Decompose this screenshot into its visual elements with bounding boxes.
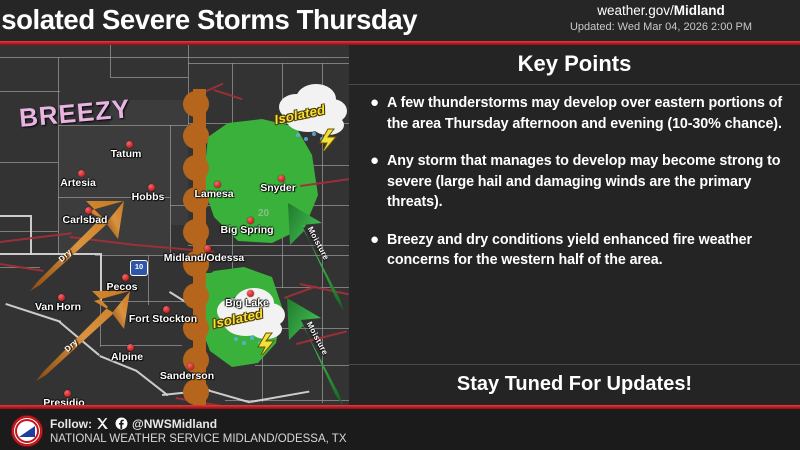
key-point-text: Breezy and dry conditions yield enhanced… — [387, 230, 787, 271]
city-label: Pecos — [107, 281, 138, 293]
key-point-text: Any storm that manages to develop may be… — [387, 151, 787, 213]
office-name: NATIONAL WEATHER SERVICE MIDLAND/ODESSA,… — [50, 433, 347, 445]
follow-line: Follow: @NWSMidland — [50, 417, 217, 431]
x-twitter-icon[interactable] — [96, 417, 109, 430]
updated-timestamp: Updated: Wed Mar 04, 2026 2:00 PM — [536, 20, 786, 34]
key-points-panel: Key Points ●A few thunderstorms may deve… — [349, 45, 800, 405]
city-dot-icon — [247, 217, 254, 224]
city-label: Lamesa — [194, 188, 233, 200]
weather-graphic: Isolated Severe Storms Thursday weather.… — [0, 0, 800, 450]
key-point-item: ●A few thunderstorms may develop over ea… — [365, 93, 787, 134]
city-label: Big Lake — [225, 297, 269, 309]
storm-icon: Isolated — [272, 81, 349, 156]
city-label: Artesia — [60, 177, 96, 189]
bullet-marker-icon: ● — [365, 151, 387, 213]
footer-bar: Follow: @NWSMidland NATIONAL WEATHER SER… — [0, 409, 800, 450]
key-point-text: A few thunderstorms may develop over eas… — [387, 93, 787, 134]
city-dot-icon — [247, 290, 254, 297]
follow-label: Follow: — [50, 417, 92, 431]
city-dot-icon — [85, 207, 92, 214]
city-label: Hobbs — [132, 191, 165, 203]
city-dot-icon — [78, 170, 85, 177]
bullet-marker-icon: ● — [365, 93, 387, 134]
stay-tuned-bar: Stay Tuned For Updates! — [349, 364, 800, 405]
city-dot-icon — [127, 344, 134, 351]
city-label: Tatum — [111, 148, 142, 160]
city-label: Van Horn — [35, 301, 81, 313]
city-dot-icon — [122, 274, 129, 281]
city-dot-icon — [204, 245, 211, 252]
page-title: Isolated Severe Storms Thursday — [0, 2, 539, 38]
city-label: Fort Stockton — [129, 313, 197, 325]
city-dot-icon — [278, 175, 285, 182]
highway-20-label: 20 — [258, 208, 269, 219]
stay-tuned-text: Stay Tuned For Updates! — [349, 365, 800, 403]
city-dot-icon — [187, 363, 194, 370]
site-office: Midland — [674, 3, 725, 18]
city-label: Big Spring — [220, 224, 273, 236]
nws-logo-icon — [11, 415, 43, 447]
city-dot-icon — [214, 181, 221, 188]
weather-gov-link[interactable]: weather.gov/Midland — [536, 3, 786, 19]
key-point-item: ●Any storm that manages to develop may b… — [365, 151, 787, 213]
city-dot-icon — [126, 141, 133, 148]
city-dot-icon — [58, 294, 65, 301]
key-point-item: ●Breezy and dry conditions yield enhance… — [365, 230, 787, 271]
key-points-header: Key Points — [349, 45, 800, 85]
social-handle[interactable]: @NWSMidland — [132, 417, 217, 431]
forecast-map[interactable]: Dry Dry Moisture — [0, 45, 349, 405]
city-label: Alpine — [111, 351, 143, 363]
interstate-10-shield: 10 — [130, 260, 148, 276]
city-dot-icon — [163, 306, 170, 313]
site-prefix: weather.gov/ — [597, 3, 674, 18]
city-dot-icon — [148, 184, 155, 191]
header-branding: weather.gov/Midland Updated: Wed Mar 04,… — [536, 3, 786, 34]
moisture-arrow: Moisture — [281, 290, 349, 405]
bullet-marker-icon: ● — [365, 230, 387, 271]
facebook-icon[interactable] — [115, 417, 128, 430]
city-label: Sanderson — [160, 370, 214, 382]
city-label: Midland/Odessa — [164, 252, 245, 264]
city-label: Snyder — [260, 182, 296, 194]
city-label: Carlsbad — [63, 214, 108, 226]
key-points-list: ●A few thunderstorms may develop over ea… — [365, 93, 787, 288]
city-label: Presidio — [43, 397, 84, 405]
city-dot-icon — [64, 390, 71, 397]
header-bar: Isolated Severe Storms Thursday weather.… — [0, 0, 800, 41]
key-points-title: Key Points — [349, 45, 800, 82]
